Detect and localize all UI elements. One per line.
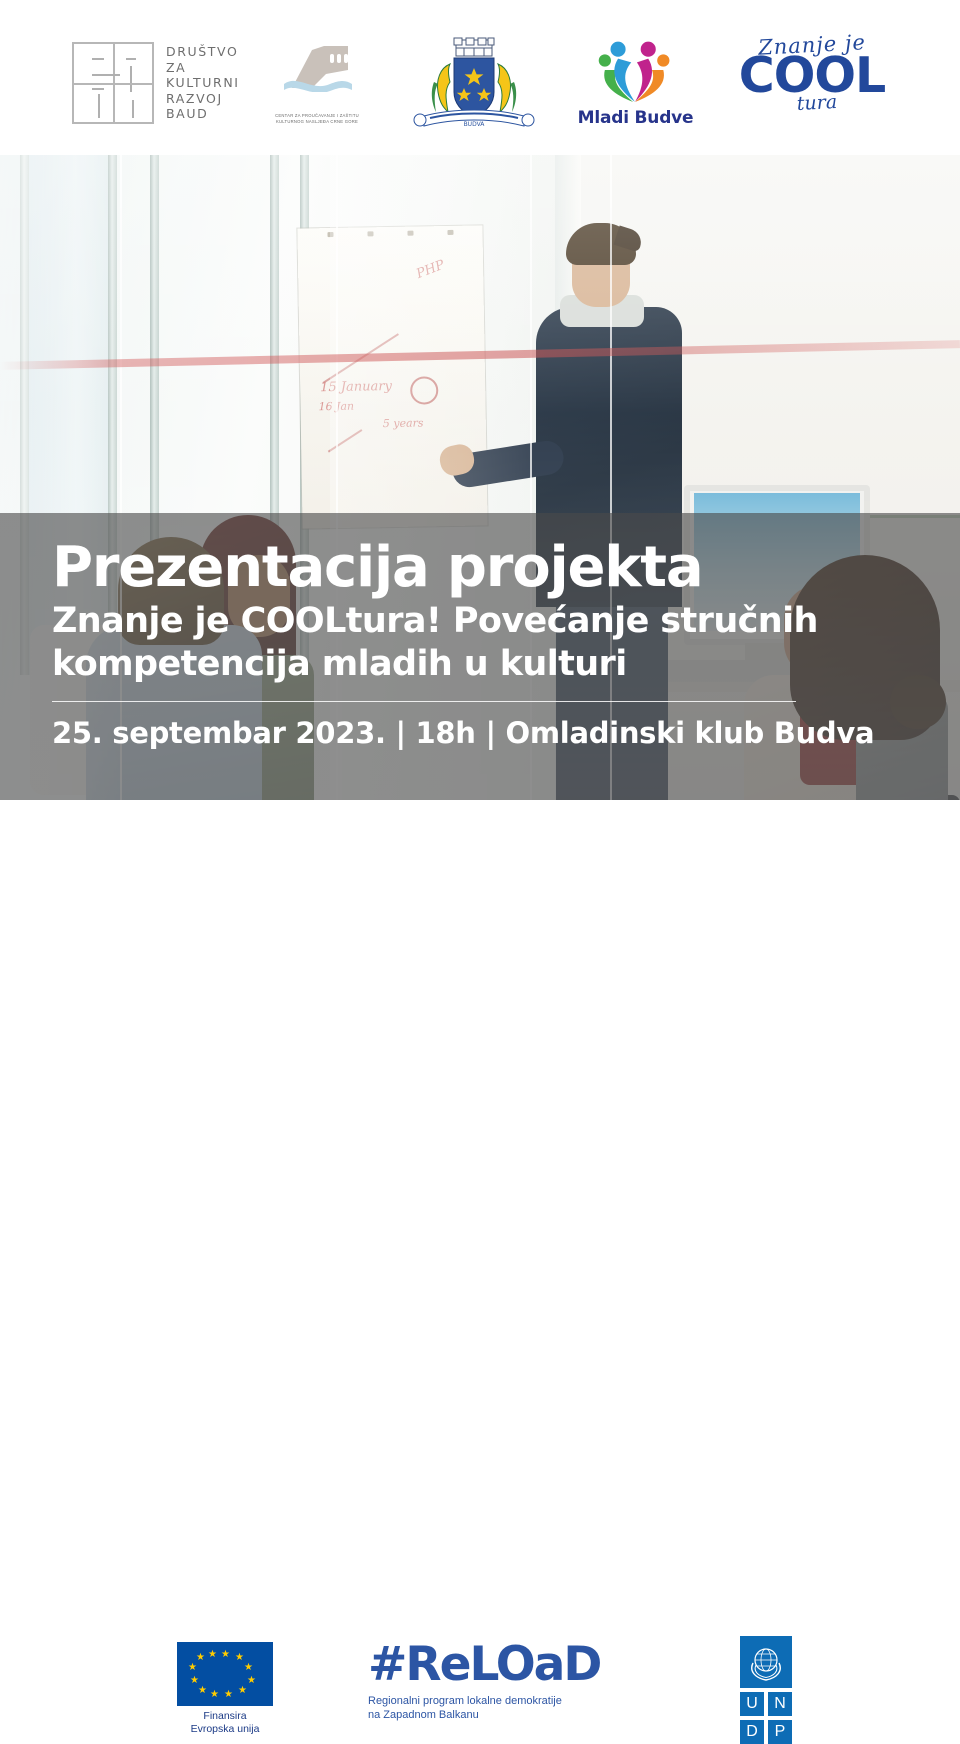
undp-letter-d: D: [740, 1720, 764, 1744]
event-details: 25. septembar 2023. | 18h | Omladinski k…: [52, 716, 932, 750]
subtitle-line-1: Znanje je COOLtura! Povećanje stručnih: [52, 601, 932, 642]
un-globe-wreath-svg: [745, 1641, 787, 1683]
subtitle-line-2: kompetencija mladih u kulturi: [52, 644, 932, 685]
baud-line-3: KULTURNI: [166, 75, 240, 91]
logo-reload: #ReLOaD Regionalni program lokalne demok…: [368, 1640, 648, 1722]
undp-letters-row-1: U N: [740, 1692, 820, 1716]
undp-letter-n: N: [768, 1692, 792, 1716]
event-text-block: Prezentacija projekta Znanje je COOLtura…: [52, 537, 932, 750]
page-title: Prezentacija projekta: [52, 537, 932, 599]
roof-wave-svg: [282, 44, 354, 92]
logo-european-union: ★ ★ ★ ★ ★ ★ ★ ★ ★ ★ ★ ★ Finansira Evrops…: [170, 1642, 280, 1736]
undp-letter-p: P: [768, 1720, 792, 1744]
grb-banner-text: BUDVA: [464, 121, 486, 128]
baud-line-2: ZA: [166, 60, 240, 76]
logo-drustvo-za-kulturni-razvoj-baud: DRUŠTVO ZA KULTURNI RAZVOJ BAUD: [72, 42, 240, 124]
undp-letter-u: U: [740, 1692, 764, 1716]
reload-sub-line-2: na Zapadnom Balkanu: [368, 1708, 648, 1722]
centar-caption-line-1: CENTAR ZA PROUČAVANJE I ZAŠTITU: [262, 113, 372, 118]
mladi-budve-wordmark: Mladi Budve: [573, 108, 698, 128]
eu-caption-line-2: Evropska unija: [170, 1723, 280, 1736]
un-emblem-icon: [740, 1636, 792, 1688]
eu-caption-line-1: Finansira: [170, 1710, 280, 1723]
reload-sub-line-1: Regionalni program lokalne demokratije: [368, 1694, 648, 1708]
logo-undp: U N D P: [740, 1636, 820, 1744]
baud-line-1: DRUŠTVO: [166, 44, 240, 60]
heritage-roof-icon: [262, 40, 372, 112]
logo-centar-za-proucavanje: CENTAR ZA PROUČAVANJE I ZAŠTITU KULTURNO…: [262, 40, 372, 125]
eu-flag-icon: ★ ★ ★ ★ ★ ★ ★ ★ ★ ★ ★ ★: [177, 1642, 273, 1706]
logo-grb-opstine-budva: BUDVA: [404, 36, 544, 136]
footer-logo-bar: ★ ★ ★ ★ ★ ★ ★ ★ ★ ★ ★ ★ Finansira Evrops…: [0, 800, 960, 960]
logo-znanje-je-cooltura: Znanje je COOL tura: [722, 34, 902, 112]
logo-mladi-budve: Mladi Budve: [573, 36, 698, 128]
baud-line-4: RAZVOJ: [166, 91, 240, 107]
mladi-budve-heart-icon: [573, 36, 698, 102]
undp-letters-row-2: D P: [740, 1720, 820, 1744]
centar-caption-line-2: KULTURNOG NASLJEĐA CRNE GORE: [262, 119, 372, 124]
reload-wordmark: #ReLOaD: [368, 1640, 648, 1690]
partner-logo-bar: DRUŠTVO ZA KULTURNI RAZVOJ BAUD CENTAR Z…: [0, 0, 960, 155]
coat-of-arms-svg: BUDVA: [404, 36, 544, 136]
baud-line-5: BAUD: [166, 106, 240, 122]
baud-wordmark: DRUŠTVO ZA KULTURNI RAZVOJ BAUD: [166, 44, 240, 122]
divider-rule: [52, 701, 796, 702]
poster-canvas: DRUŠTVO ZA KULTURNI RAZVOJ BAUD CENTAR Z…: [0, 0, 960, 960]
baud-grid-icon: [72, 42, 154, 124]
